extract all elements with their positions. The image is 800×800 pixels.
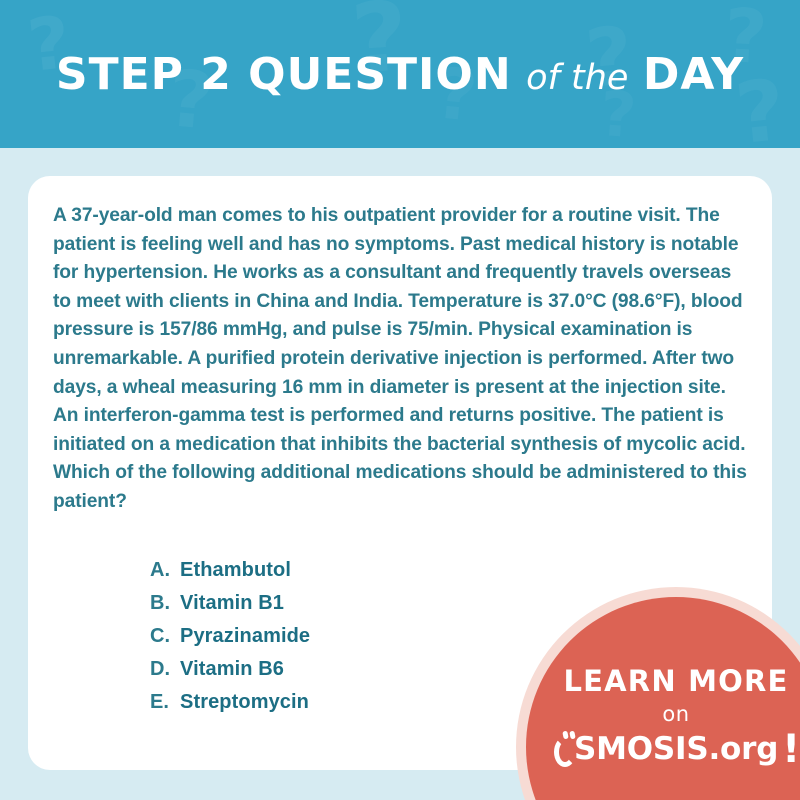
answer-option-letter: B. [150, 592, 180, 615]
answer-option-text: Streptomycin [180, 691, 309, 714]
question-stem: A 37-year-old man comes to his outpatien… [53, 202, 748, 517]
answer-option-letter: A. [150, 559, 180, 582]
page-title-part2: of the [526, 58, 628, 98]
badge-on-label: on [534, 704, 800, 725]
answer-option-letter: C. [150, 625, 180, 648]
header-band: ???????? STEP 2 QUESTION of the DAY [0, 0, 800, 148]
page-title: STEP 2 QUESTION of the DAY [0, 0, 800, 148]
answer-option-letter: D. [150, 658, 180, 681]
learn-more-badge[interactable]: LEARN MORE on SMOSIS.org ! [516, 587, 800, 800]
badge-content: LEARN MORE on SMOSIS.org ! [534, 667, 800, 769]
answer-option[interactable]: A.Ethambutol [150, 559, 748, 582]
answer-option-text: Ethambutol [180, 559, 291, 582]
answer-option-text: Pyrazinamide [180, 625, 310, 648]
badge-learn-more-label: LEARN MORE [534, 667, 800, 696]
osmosis-logo: SMOSIS.org ! [534, 730, 800, 769]
osmosis-exclamation: ! [782, 730, 800, 769]
osmosis-o-mark-icon [552, 731, 572, 769]
answer-option-letter: E. [150, 691, 180, 714]
page-title-part3: DAY [643, 49, 744, 100]
question-of-the-day-card: ???????? STEP 2 QUESTION of the DAY A 37… [0, 0, 800, 800]
page-title-part1: STEP 2 QUESTION [56, 49, 512, 100]
answer-option-text: Vitamin B1 [180, 592, 284, 615]
osmosis-brand-label: SMOSIS.org [574, 734, 778, 765]
answer-option-text: Vitamin B6 [180, 658, 284, 681]
